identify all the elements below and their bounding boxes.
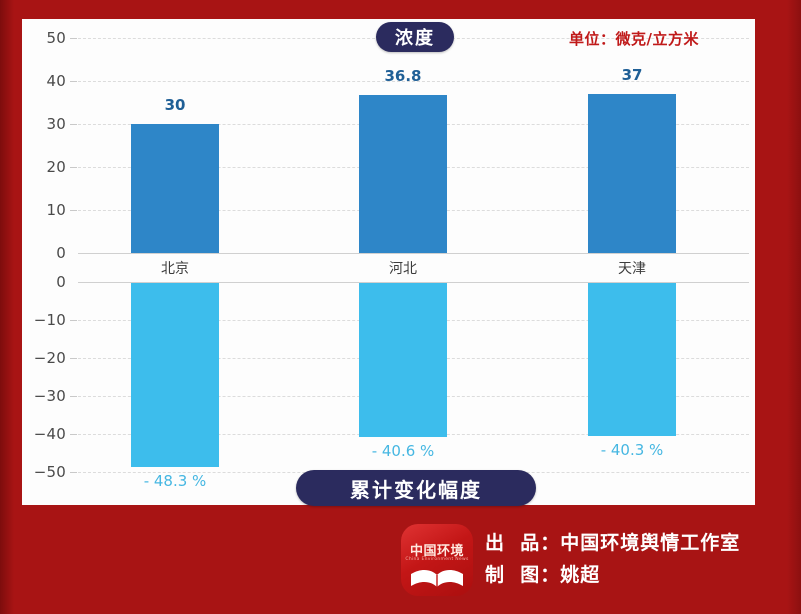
bar-upper-tianjin[interactable] bbox=[588, 94, 676, 253]
tick-upper-30 bbox=[70, 124, 77, 125]
bar-value-upper-hebei: 36.8 bbox=[333, 69, 473, 84]
footer-credits: 出 品：中国环境舆情工作室 制 图：姚超 bbox=[485, 527, 740, 591]
bar-value-lower-hebei: - 40.6 % bbox=[333, 444, 473, 459]
ytick-upper-30: 30 bbox=[22, 117, 66, 132]
open-book-icon bbox=[401, 524, 473, 596]
tick-lower-m30 bbox=[70, 396, 77, 397]
chart-panel: 50 40 30 20 10 0 30 36.8 37 北京 河北 天津 0 −… bbox=[22, 19, 755, 505]
concentration-title-badge: 浓度 bbox=[376, 22, 454, 52]
bar-value-lower-tianjin: - 40.3 % bbox=[562, 443, 702, 458]
bar-lower-tianjin[interactable] bbox=[588, 283, 676, 436]
ytick-upper-40: 40 bbox=[22, 74, 66, 89]
ytick-lower-m50: −50 bbox=[22, 465, 66, 480]
ytick-lower-m30: −30 bbox=[22, 389, 66, 404]
ytick-upper-0: 0 bbox=[22, 246, 66, 261]
tick-lower-m20 bbox=[70, 358, 77, 359]
ytick-lower-m20: −20 bbox=[22, 351, 66, 366]
bar-upper-beijing[interactable] bbox=[131, 124, 219, 253]
bar-value-upper-beijing: 30 bbox=[105, 98, 245, 113]
ytick-lower-0: 0 bbox=[22, 275, 66, 290]
category-label-beijing: 北京 bbox=[105, 262, 245, 276]
ytick-upper-10: 10 bbox=[22, 203, 66, 218]
category-label-hebei: 河北 bbox=[333, 262, 473, 276]
unit-note: 单位：微克/立方米 bbox=[569, 28, 699, 49]
bar-lower-beijing[interactable] bbox=[131, 283, 219, 467]
tick-lower-m10 bbox=[70, 320, 77, 321]
ytick-upper-50: 50 bbox=[22, 31, 66, 46]
bar-upper-hebei[interactable] bbox=[359, 95, 447, 253]
china-environment-logo: 中国环境 China Environment News bbox=[401, 524, 473, 596]
ytick-lower-m40: −40 bbox=[22, 427, 66, 442]
infographic-root: 50 40 30 20 10 0 30 36.8 37 北京 河北 天津 0 −… bbox=[0, 0, 801, 614]
gridline-upper-zero bbox=[78, 253, 749, 254]
bar-lower-hebei[interactable] bbox=[359, 283, 447, 437]
footer-producer-line: 出 品：中国环境舆情工作室 bbox=[485, 527, 740, 559]
bar-value-lower-beijing: - 48.3 % bbox=[105, 474, 245, 489]
ytick-upper-20: 20 bbox=[22, 160, 66, 175]
bar-value-upper-tianjin: 37 bbox=[562, 68, 702, 83]
tick-lower-m40 bbox=[70, 434, 77, 435]
tick-upper-40 bbox=[70, 81, 77, 82]
tick-upper-50 bbox=[70, 38, 77, 39]
tick-lower-m50 bbox=[70, 472, 77, 473]
tick-upper-20 bbox=[70, 167, 77, 168]
category-label-tianjin: 天津 bbox=[562, 262, 702, 276]
tick-upper-10 bbox=[70, 210, 77, 211]
footer-designer-line: 制 图：姚超 bbox=[485, 559, 740, 591]
cumulative-change-title-badge: 累计变化幅度 bbox=[296, 470, 536, 506]
ytick-lower-m10: −10 bbox=[22, 313, 66, 328]
